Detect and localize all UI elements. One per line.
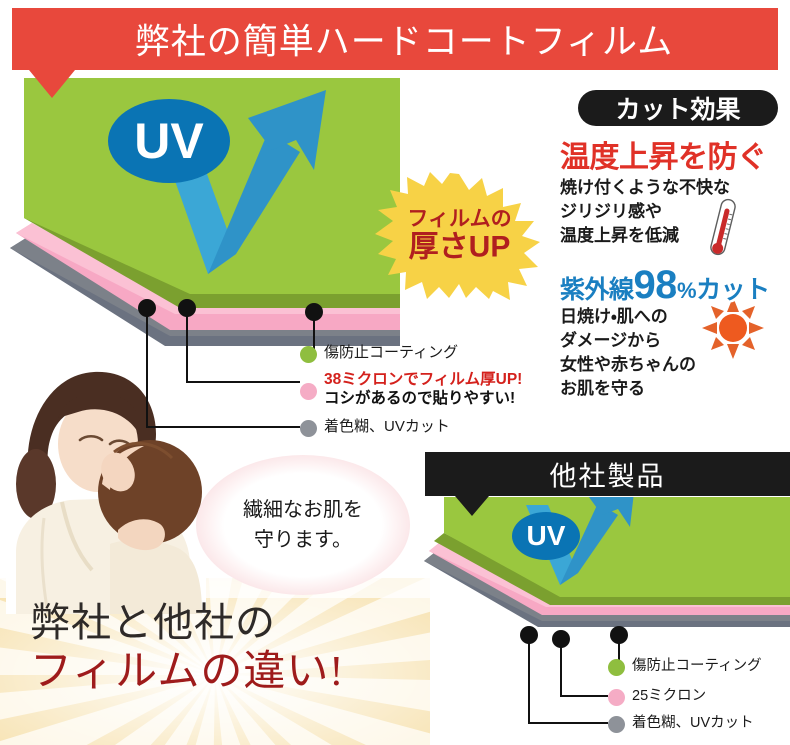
leader-line-adhesive-h [146,426,300,428]
other-callout-dot-coating [610,626,628,644]
bottom-headline: 弊社と他社の フィルムの違い! [30,600,344,696]
skin-protect-text: 繊細なお肌を 守ります。 [196,495,410,555]
leader-line-film-h [186,381,300,383]
legend-label-adhesive: 着色糊、UVカット [324,418,450,437]
legend-label-coating: 傷防止コーティング [324,344,458,363]
mother-baby-illustration [6,352,206,614]
other-leader-film-h [560,695,608,697]
mother-baby-photo [6,352,206,614]
other-leader-adhesive-h [528,722,608,724]
other-legend-label-coating: 傷防止コーティング [632,657,762,675]
leader-line-film-v [186,308,188,382]
legend-item-adhesive: 着色糊、UVカット [300,418,450,437]
other-product-banner-pointer [455,496,489,516]
uv-cut-headline: 紫外線 98 % カット [560,265,770,306]
other-legend-item-adhesive: 着色糊、UVカット [608,714,754,733]
other-legend-item-film: 25ミクロン [608,687,706,706]
other-callout-dot-film [552,630,570,648]
other-leader-adhesive-v [528,635,530,723]
legend-bullet-film [300,383,317,400]
heat-headline: 温度上昇を防ぐ [560,132,767,176]
sun-icon [702,297,764,364]
starburst-shape [372,172,547,300]
leader-line-adhesive-v [146,308,148,427]
legend-item-coating: 傷防止コーティング [300,344,458,363]
cut-effect-label: カット効果 [615,90,740,126]
other-legend-label-adhesive: 着色糊、UVカット [632,714,754,732]
sun-svg [702,297,764,359]
other-legend-bullet-adhesive [608,716,625,733]
uv-cut-number: 98 [634,265,678,305]
header-banner: 弊社の簡単ハードコートフィルム [12,8,778,70]
legend-item-film: 38ミクロンでフィルム厚UP! コシがあるので貼りやすい! [300,371,522,408]
cut-effect-pill: カット効果 [578,90,778,126]
uv-cut-suffix: カット [696,270,770,306]
other-legend-bullet-coating [608,659,625,676]
skin-protect-bubble: 繊細なお肌を 守ります。 [196,455,410,595]
thickness-up-badge: フィルムの 厚さUP [372,172,547,300]
uv-body-copy: 日焼け・肌への ダメージから 女性や赤ちゃんの お肌を守る [560,305,696,402]
legend-label-film-red: 38ミクロンでフィルム厚UP! [324,371,522,390]
callout-dot-film [178,299,196,317]
legend-bullet-coating [300,346,317,363]
other-legend-item-coating: 傷防止コーティング [608,657,762,676]
legend-bullet-adhesive [300,420,317,437]
callout-dot-coating [305,303,323,321]
legend-label-film-group: 38ミクロンでフィルム厚UP! コシがあるので貼りやすい! [324,371,522,408]
uv-cut-percent: % [677,278,696,304]
uv-label-main: UV [108,99,230,183]
page-title: 弊社の簡単ハードコートフィルム [12,14,778,65]
other-product-title: 他社製品 [425,455,790,494]
other-product-banner: 他社製品 [425,452,790,496]
header-banner-pointer [29,70,75,98]
other-legend-label-film: 25ミクロン [632,687,706,705]
uv-label-other: UV [512,512,580,560]
heat-body-copy: 焼け付くような不快な ジリジリ感や 温度上昇を低減 [560,176,730,248]
other-callout-dot-adhesive [520,626,538,644]
callout-dot-adhesive [138,299,156,317]
infographic-canvas: 弊社と他社の フィルムの違い! 弊社の簡単ハードコートフィルム UV [0,0,790,745]
uv-cut-prefix: 紫外線 [560,270,634,306]
legend-label-film-black: コシがあるので貼りやすい! [324,390,522,409]
other-legend-bullet-film [608,689,625,706]
headline-line-1: 弊社と他社の [30,600,344,646]
headline-line-2: フィルムの違い! [30,648,344,696]
